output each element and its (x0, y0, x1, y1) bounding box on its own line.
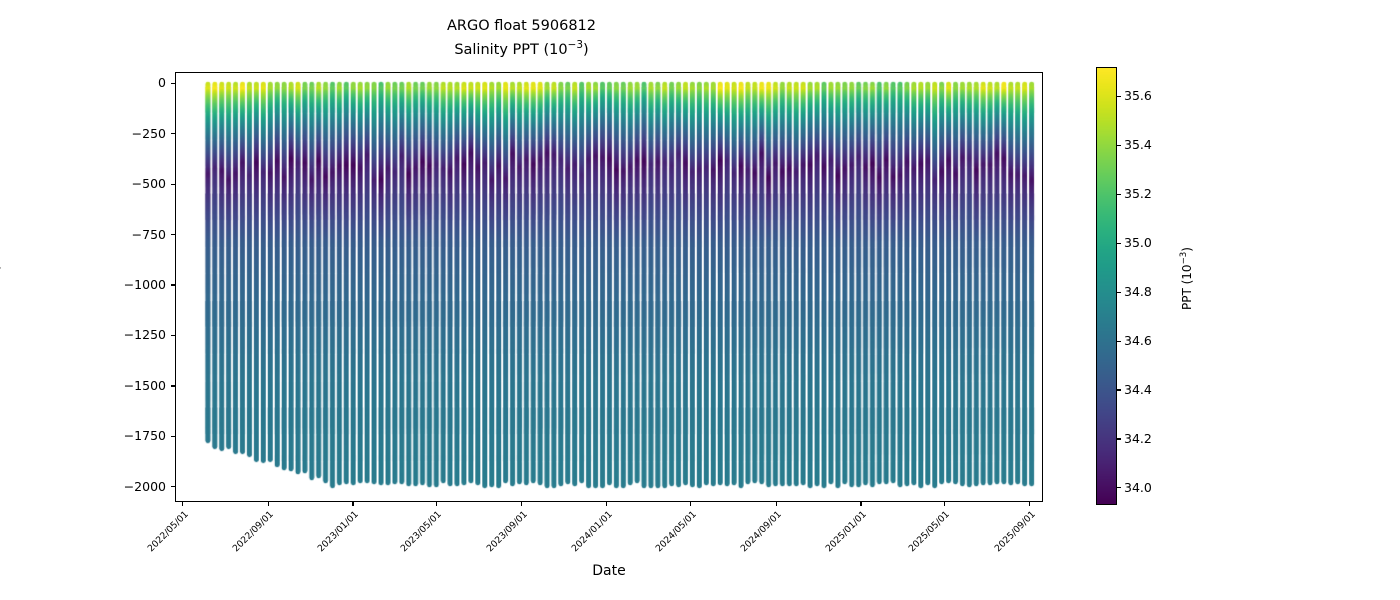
colorbar-tick-label: 35.2 (1124, 186, 1152, 201)
y-tick-mark (171, 335, 175, 336)
y-tick-mark (171, 385, 175, 386)
plot-area[interactable] (175, 72, 1043, 502)
colorbar-tick-label: 35.6 (1124, 88, 1152, 103)
colorbar-tick-label: 34.4 (1124, 382, 1152, 397)
y-tick-mark (171, 83, 175, 84)
y-tick-label: −250 (0, 126, 166, 141)
figure-subtitle: Salinity PPT (10−3) (0, 42, 1043, 58)
x-tick-mark (182, 502, 183, 506)
colorbar-tick-mark (1117, 243, 1121, 244)
colorbar-label-suffix: ) (1180, 247, 1194, 252)
colorbar-tick-mark (1117, 96, 1121, 97)
colorbar-label-prefix: PPT (10 (1180, 264, 1194, 310)
x-tick-label: 2024/09/01 (737, 509, 784, 556)
x-tick-label: 2023/01/01 (313, 509, 360, 556)
colorbar-label: PPT (10−3) (1180, 247, 1194, 310)
x-tick-mark (606, 502, 607, 506)
colorbar-tick-mark (1117, 341, 1121, 342)
x-tick-label: 2025/01/01 (821, 509, 868, 556)
colorbar-tick-label: 35.0 (1124, 235, 1152, 250)
subtitle-exponent: −3 (568, 39, 583, 51)
x-tick-mark (944, 502, 945, 506)
y-tick-mark (171, 133, 175, 134)
x-tick-label: 2023/09/01 (482, 509, 529, 556)
figure-title: ARGO float 5906812 (0, 18, 1043, 34)
y-tick-label: −500 (0, 176, 166, 191)
x-tick-mark (860, 502, 861, 506)
x-tick-mark (436, 502, 437, 506)
subtitle-suffix: ) (583, 42, 589, 58)
colorbar-tick-mark (1117, 389, 1121, 390)
x-tick-label: 2025/09/01 (990, 509, 1037, 556)
colorbar-label-exponent: −3 (1179, 252, 1189, 265)
colorbar[interactable] (1096, 67, 1117, 505)
colorbar-tick-mark (1117, 438, 1121, 439)
figure-canvas: ARGO float 5906812 Salinity PPT (10−3) 0… (0, 0, 1400, 600)
y-tick-label: −2000 (0, 479, 166, 494)
x-tick-label: 2024/01/01 (567, 509, 614, 556)
y-axis-label: Depth (m) (0, 223, 1, 287)
x-axis-label: Date (175, 563, 1043, 579)
y-tick-mark (171, 436, 175, 437)
y-tick-mark (171, 184, 175, 185)
y-tick-label: −1500 (0, 378, 166, 393)
y-tick-mark (171, 234, 175, 235)
colorbar-tick-label: 34.8 (1124, 284, 1152, 299)
x-tick-label: 2022/09/01 (229, 509, 276, 556)
colorbar-tick-label: 34.6 (1124, 333, 1152, 348)
colorbar-tick-label: 34.0 (1124, 480, 1152, 495)
y-tick-mark (171, 284, 175, 285)
x-tick-label: 2023/05/01 (397, 509, 444, 556)
colorbar-tick-mark (1117, 487, 1121, 488)
x-tick-mark (352, 502, 353, 506)
x-tick-mark (776, 502, 777, 506)
x-tick-label: 2022/05/01 (143, 509, 190, 556)
y-tick-label: −750 (0, 227, 166, 242)
y-tick-label: −1250 (0, 327, 166, 342)
colorbar-tick-label: 34.2 (1124, 431, 1152, 446)
colorbar-tick-mark (1117, 194, 1121, 195)
salinity-profile-scatter (176, 73, 1042, 501)
y-tick-label: −1750 (0, 428, 166, 443)
x-tick-label: 2024/05/01 (651, 509, 698, 556)
colorbar-gradient (1097, 68, 1116, 504)
colorbar-tick-mark (1117, 292, 1121, 293)
colorbar-tick-label: 35.4 (1124, 137, 1152, 152)
y-tick-label: 0 (0, 75, 166, 90)
x-tick-label: 2025/05/01 (905, 509, 952, 556)
x-tick-mark (521, 502, 522, 506)
y-tick-mark (171, 486, 175, 487)
y-tick-label: −1000 (0, 277, 166, 292)
subtitle-prefix: Salinity PPT (10 (454, 42, 567, 58)
x-tick-mark (268, 502, 269, 506)
colorbar-tick-mark (1117, 145, 1121, 146)
x-tick-mark (1029, 502, 1030, 506)
x-tick-mark (690, 502, 691, 506)
